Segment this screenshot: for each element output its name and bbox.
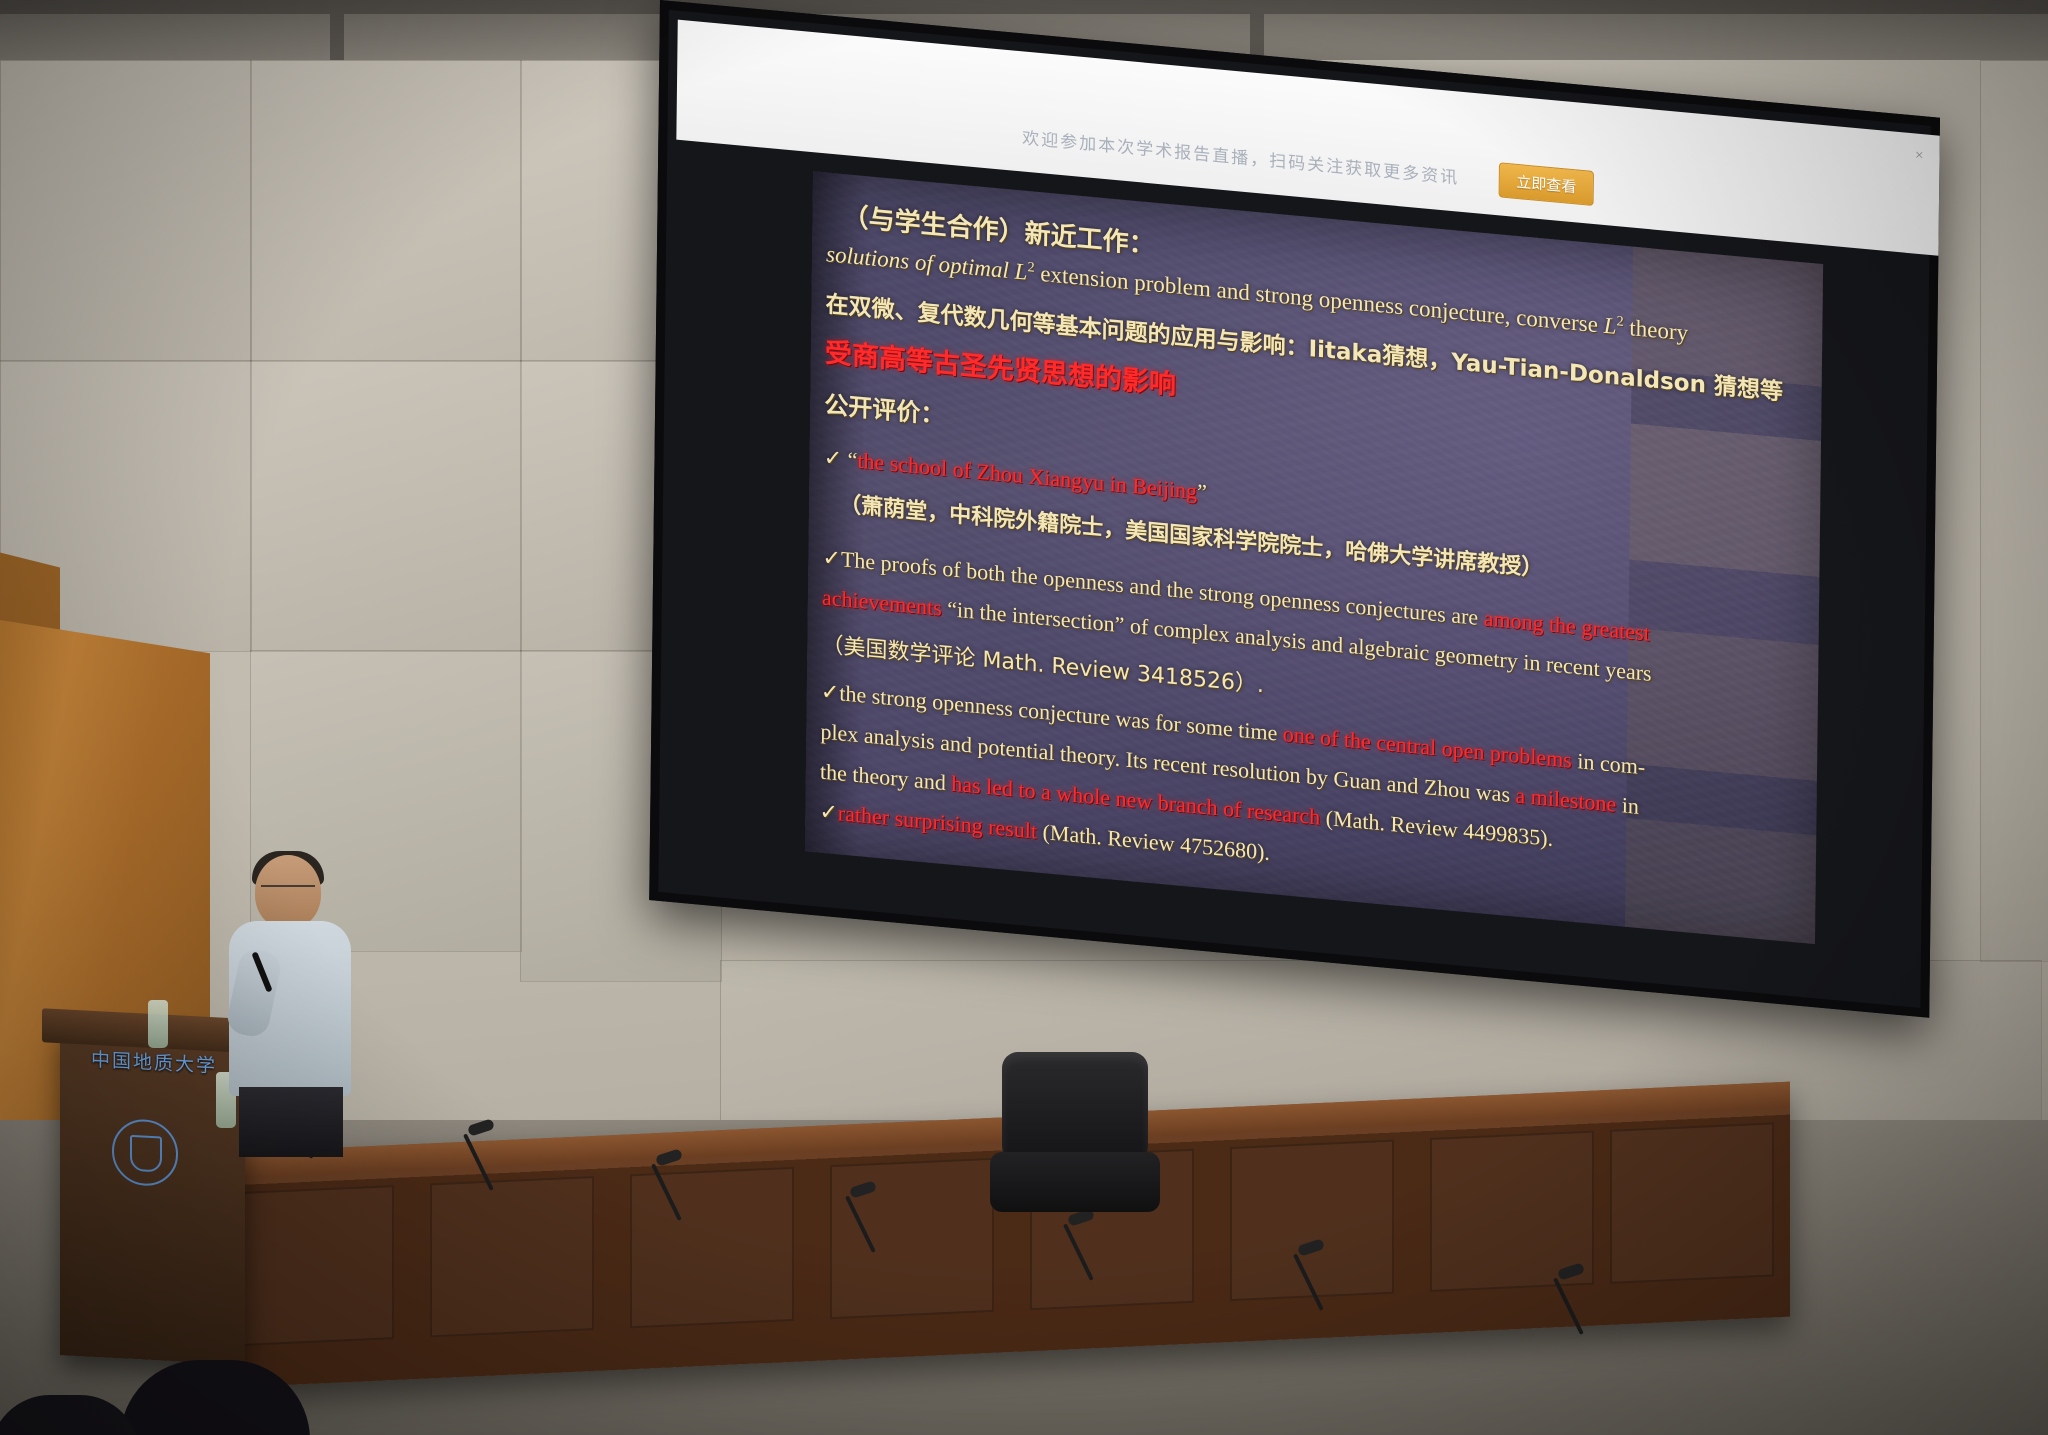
check-icon: ✓ bbox=[822, 546, 841, 573]
chair-back bbox=[1002, 1052, 1148, 1162]
presentation-slide: （与学生合作）新近工作： solutions of optimal L2 ext… bbox=[805, 171, 1823, 944]
check-icon: ✓ bbox=[819, 800, 838, 827]
university-emblem-icon bbox=[112, 1118, 178, 1187]
wall-panel bbox=[1980, 60, 2048, 962]
table-front-panel bbox=[630, 1167, 794, 1328]
banner-action-button[interactable]: 立即查看 bbox=[1499, 162, 1593, 206]
line1-L: L bbox=[1014, 259, 1027, 285]
check-icon: ✓ bbox=[821, 680, 840, 707]
speaker-trousers bbox=[239, 1087, 343, 1157]
projection-screen: × 欢迎参加本次学术报告直播，扫码关注获取更多资讯 立即查看 （与学生合作）新近… bbox=[649, 0, 1940, 1018]
presider-chair bbox=[990, 1052, 1160, 1232]
quote-close: ” bbox=[1197, 479, 1207, 505]
table-front-panel bbox=[830, 1158, 994, 1319]
wall-panel bbox=[0, 60, 252, 362]
water-bottle bbox=[148, 1000, 168, 1048]
banner-text: 欢迎参加本次学术报告直播，扫码关注获取更多资讯 bbox=[1022, 123, 1459, 188]
check-icon: ✓ bbox=[824, 446, 843, 473]
lecture-hall-photo: × 欢迎参加本次学术报告直播，扫码关注获取更多资讯 立即查看 （与学生合作）新近… bbox=[0, 0, 2048, 1435]
line1-part-c: theory bbox=[1623, 315, 1688, 346]
eyeglasses-icon bbox=[261, 885, 315, 899]
table-front-panel bbox=[1230, 1140, 1394, 1301]
item3-part2: in com- bbox=[1572, 748, 1646, 780]
chair-seat bbox=[990, 1152, 1160, 1212]
item3-part4: in bbox=[1616, 792, 1639, 819]
wall-panel bbox=[250, 360, 522, 652]
table-front-panel bbox=[430, 1176, 594, 1337]
quote-open: “ bbox=[847, 447, 857, 473]
projection-screen-area: × 欢迎参加本次学术报告直播，扫码关注获取更多资讯 立即查看 （与学生合作）新近… bbox=[660, 0, 1980, 1060]
speaker bbox=[225, 855, 355, 1145]
table-front-panel bbox=[230, 1185, 394, 1346]
close-icon[interactable]: × bbox=[1915, 148, 1924, 166]
line1-L2: L bbox=[1604, 313, 1617, 339]
wall-panel bbox=[250, 60, 522, 362]
table-front-panel bbox=[1610, 1122, 1774, 1283]
